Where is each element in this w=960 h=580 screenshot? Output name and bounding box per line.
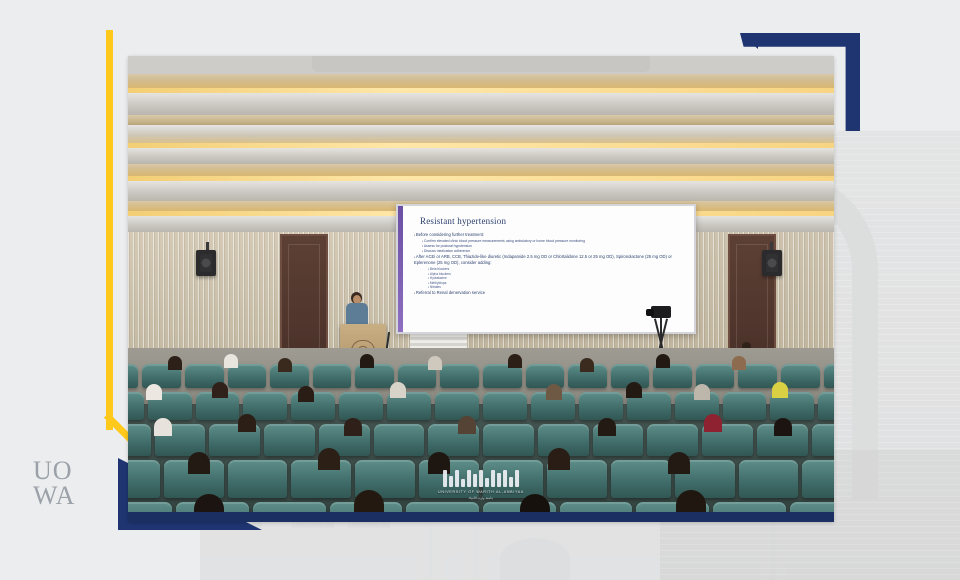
auditorium-seat <box>128 364 138 388</box>
slide-bullet: Referral to Renal denervation service <box>414 290 686 296</box>
auditorium-seat <box>483 424 534 456</box>
auditorium-seat <box>435 392 479 420</box>
attendee-head <box>580 358 594 372</box>
attendee-head <box>154 418 172 436</box>
wall-speaker <box>196 250 216 276</box>
video-camera-icon <box>651 306 671 318</box>
ceiling-beam <box>128 181 834 201</box>
attendee-head <box>224 354 238 368</box>
attendee-head <box>508 354 522 368</box>
slide-body: Before considering further treatment: Co… <box>414 232 686 297</box>
attendee-head <box>278 358 292 372</box>
poster-canvas: Resistant hypertension Before considerin… <box>0 0 960 580</box>
attendee-head <box>656 354 670 368</box>
seat-row <box>128 424 834 456</box>
ceiling-beam <box>128 164 834 176</box>
auditorium-seat <box>739 460 799 498</box>
ceiling-beam <box>128 74 834 88</box>
auditorium-door <box>280 234 328 362</box>
attendee-head <box>168 356 182 370</box>
attendee-head <box>298 386 314 402</box>
auditorium-seat <box>611 460 671 498</box>
auditorium-seat <box>824 364 834 388</box>
ceiling-plate <box>312 56 651 72</box>
attendee-head <box>704 414 722 432</box>
attendee-head <box>626 382 642 398</box>
watermark-subtitle-ar: جامعة وارث الأنبياء <box>438 496 524 500</box>
attendee-head <box>212 382 228 398</box>
auditorium-seat <box>128 424 151 456</box>
slide-accent-bar <box>398 206 403 332</box>
ceiling-beam <box>128 115 834 125</box>
attendee-head <box>318 448 340 470</box>
attendee-head <box>598 418 616 436</box>
attendee-head <box>668 452 690 474</box>
auditorium-seat <box>647 424 698 456</box>
university-watermark: UNIVERSITY OF WARITH AL-ANBIYAA جامعة وا… <box>438 470 524 500</box>
attendee-head <box>146 384 162 400</box>
attendee-head <box>188 452 210 474</box>
auditorium-seat <box>781 364 820 388</box>
uowa-logo-line2: WA <box>33 483 75 508</box>
attendee-head <box>390 382 406 398</box>
attendee-head <box>772 382 788 398</box>
auditorium-seat <box>723 392 767 420</box>
attendee-head <box>344 418 362 436</box>
auditorium-seat <box>818 392 834 420</box>
slide-bullet: After ACEi or ARB, CCB, Thiazide-like di… <box>414 254 686 266</box>
uowa-logo-line1: UO <box>33 458 75 483</box>
slide-bullet: Before considering further treatment: <box>414 232 686 238</box>
auditorium-seat <box>313 364 352 388</box>
building-shrub <box>500 538 570 580</box>
presenter <box>346 292 368 328</box>
auditorium-seat <box>579 392 623 420</box>
auditorium-seat <box>440 364 479 388</box>
attendee-head <box>360 354 374 368</box>
ceiling-beam <box>128 125 834 143</box>
camera-lens-icon <box>646 309 654 316</box>
wall-speaker <box>762 250 782 276</box>
attendee-head <box>774 418 792 436</box>
kufic-logo-icon <box>438 470 524 487</box>
watermark-subtitle-en: UNIVERSITY OF WARITH AL-ANBIYAA <box>438 490 524 494</box>
attendee-head <box>694 384 710 400</box>
auditorium-seat <box>128 460 160 498</box>
photo-bottom-bar <box>128 512 834 522</box>
ceiling-beam <box>128 93 834 115</box>
auditorium-seat <box>228 460 288 498</box>
auditorium-seat <box>339 392 383 420</box>
seat-row <box>128 392 834 420</box>
attendee-head <box>238 414 256 432</box>
uowa-logo: UO WA <box>33 458 75 508</box>
attendee-head <box>458 416 476 434</box>
attendee-head <box>546 384 562 400</box>
ceiling-beam <box>128 148 834 164</box>
attendee-head <box>548 448 570 470</box>
yellow-accent-vertical <box>106 30 113 430</box>
auditorium-seat <box>128 392 144 420</box>
attendee-head <box>428 356 442 370</box>
auditorium-seat <box>802 460 834 498</box>
slide-title: Resistant hypertension <box>420 216 506 226</box>
auditorium-seat <box>264 424 315 456</box>
auditorium-seat <box>812 424 834 456</box>
photo-scene: Resistant hypertension Before considerin… <box>128 56 834 522</box>
auditorium-lecture-photo: Resistant hypertension Before considerin… <box>128 56 834 522</box>
auditorium-seat <box>483 392 527 420</box>
auditorium-seat <box>374 424 425 456</box>
attendee-head <box>732 356 746 370</box>
